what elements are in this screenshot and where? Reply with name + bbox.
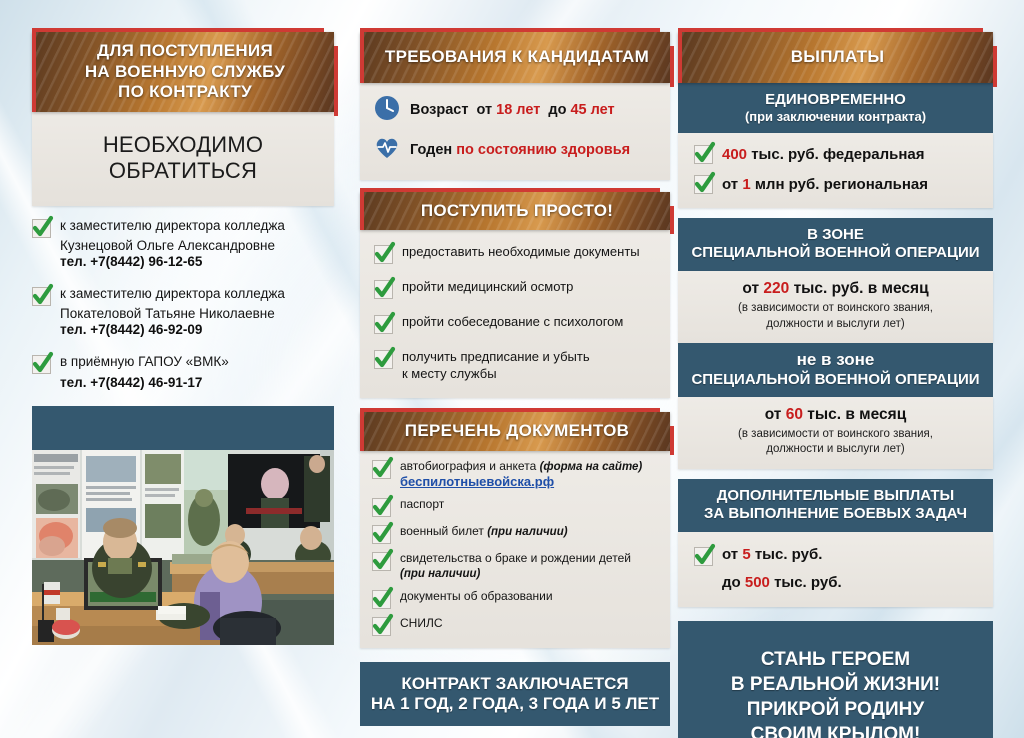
document-item: паспорт	[372, 497, 658, 517]
step-item: предоставить необходимые документы	[374, 244, 656, 264]
check-icon	[32, 355, 51, 374]
documents-website-link[interactable]: беспилотныевойска.рф	[400, 474, 554, 489]
age-from-value: 18 лет	[496, 102, 540, 118]
step-label: пройти собеседование с психологом	[402, 314, 623, 330]
lump-sum-regional-value: 1	[742, 176, 750, 193]
document-item: автобиография и анкета (форма на сайте) …	[372, 459, 658, 491]
zone-out-amount: от 60 тыс. в месяц	[690, 406, 981, 424]
check-icon	[372, 590, 391, 609]
step-label-line-1: получить предписание и убыть	[402, 349, 590, 364]
left-column: ДЛЯ ПОСТУПЛЕНИЯ НА ВОЕННУЮ СЛУЖБУ ПО КОН…	[32, 32, 334, 645]
lump-sum-item: 400 тыс. руб. федеральная	[694, 144, 977, 164]
document-note: (при наличии)	[400, 568, 480, 580]
hero-slogan: СТАНЬ ГЕРОЕМ В РЕАЛЬНОЙ ЖИЗНИ! ПРИКРОЙ Р…	[678, 621, 993, 738]
left-banner-line-3: ПО КОНТРАКТУ	[50, 82, 320, 103]
check-icon	[374, 245, 393, 264]
zone-out-note-line-1: (в зависимости от воинского звания,	[738, 428, 933, 440]
extra-from-rest: тыс. руб.	[755, 546, 823, 563]
check-icon	[374, 280, 393, 299]
check-icon	[32, 219, 51, 238]
document-label: военный билет (при наличии)	[400, 524, 568, 539]
health-highlight: по состоянию здоровья	[456, 142, 630, 158]
right-column: ВЫПЛАТЫ ЕДИНОВРЕМЕННО (при заключении ко…	[678, 32, 993, 738]
extra-to-rest: тыс. руб.	[774, 574, 842, 591]
document-main: свидетельства о браке и рождении детей	[400, 551, 631, 565]
step-label-line-2: к месту службы	[402, 366, 497, 381]
hero-line-4: СВОИМ КРЫЛОМ!	[690, 722, 981, 738]
lump-sum-subtitle: (при заключении контракта)	[688, 109, 983, 125]
contact-role: в приёмную ГАПОУ «ВМК»	[60, 354, 229, 369]
contact-name: Покателовой Татьяне Николаевне	[60, 306, 334, 321]
requirements-banner: ТРЕБОВАНИЯ К КАНДИДАТАМ	[360, 32, 670, 83]
zone-in-title-line-1: В ЗОНЕ	[684, 226, 987, 244]
check-icon	[372, 552, 391, 571]
document-item: документы об образовании	[372, 589, 658, 609]
zone-out-suffix: тыс. в месяц	[807, 406, 906, 423]
step-label: пройти медицинский осмотр	[402, 279, 573, 295]
extra-payments-panel: от 5 тыс. руб. до 500 тыс. руб.	[678, 532, 993, 607]
contacts-list: к заместителю директора колледжа Кузнецо…	[32, 218, 334, 390]
zone-out-title-line-1: не в зоне	[684, 350, 987, 370]
poster-page: ДЛЯ ПОСТУПЛЕНИЯ НА ВОЕННУЮ СЛУЖБУ ПО КОН…	[0, 0, 1024, 738]
zone-out-note-line-2: должности и выслуги лет)	[766, 443, 904, 455]
requirements-banner-label: ТРЕБОВАНИЯ К КАНДИДАТАМ	[378, 47, 656, 68]
contact-phone[interactable]: тел. +7(8442) 96-12-65	[60, 254, 334, 269]
lump-sum-federal-value: 400	[722, 146, 747, 163]
document-item: СНИЛС	[372, 616, 658, 636]
zone-in-note-line-2: должности и выслуги лет)	[766, 318, 904, 330]
check-icon	[372, 617, 391, 636]
zone-in-title-line-2: СПЕЦИАЛЬНОЙ ВОЕННОЙ ОПЕРАЦИИ	[684, 244, 987, 262]
document-main: военный билет	[400, 524, 484, 538]
hero-line-1: СТАНЬ ГЕРОЕМ	[690, 647, 981, 672]
contract-line-2: НА 1 ГОД, 2 ГОДА, 3 ГОДА И 5 ЛЕТ	[370, 694, 660, 714]
lump-sum-regional-prefix: от	[722, 176, 738, 193]
extra-from-value: 5	[742, 546, 750, 563]
payments-banner: ВЫПЛАТЫ	[678, 32, 993, 83]
check-icon	[694, 145, 713, 164]
check-icon	[372, 525, 391, 544]
document-main: автобиография и анкета	[400, 459, 536, 473]
lump-sum-regional-rest: млн руб. региональная	[755, 176, 928, 193]
steps-panel: предоставить необходимые документы пройт…	[360, 230, 670, 398]
middle-column: ТРЕБОВАНИЯ К КАНДИДАТАМ Возраст от 18 ле…	[360, 32, 670, 726]
extra-from-prefix: от	[722, 546, 738, 563]
steps-banner-label: ПОСТУПИТЬ ПРОСТО!	[378, 201, 656, 222]
age-to-value: 45 лет	[570, 102, 614, 118]
step-item: пройти медицинский осмотр	[374, 279, 656, 299]
step-label-multiline: получить предписание и убыть к месту слу…	[402, 349, 590, 382]
contact-name: Кузнецовой Ольге Александровне	[60, 238, 334, 253]
requirement-age-text: Возраст от 18 лет до 45 лет	[410, 102, 615, 118]
lump-sum-regional: от 1 млн руб. региональная	[722, 176, 928, 193]
lump-sum-panel: 400 тыс. руб. федеральная от 1 млн руб. …	[678, 133, 993, 208]
contact-phone[interactable]: тел. +7(8442) 46-92-09	[60, 322, 334, 337]
age-from-label: от	[477, 102, 493, 118]
contact-role: к заместителю директора колледжа	[60, 218, 285, 233]
requirement-health: Годен по состоянию здоровья	[374, 135, 656, 166]
requirements-panel: Возраст от 18 лет до 45 лет Годен по сос	[360, 83, 670, 180]
document-item: свидетельства о браке и рождении детей (…	[372, 551, 658, 581]
extra-from-text: от 5 тыс. руб.	[722, 546, 822, 563]
photo-block	[32, 406, 334, 645]
contact-item: к заместителю директора колледжа Покател…	[32, 286, 334, 337]
documents-panel: автобиография и анкета (форма на сайте) …	[360, 451, 670, 648]
zone-in-prefix: от	[742, 280, 759, 297]
check-icon	[32, 287, 51, 306]
zone-in-header: В ЗОНЕ СПЕЦИАЛЬНОЙ ВОЕННОЙ ОПЕРАЦИИ	[678, 218, 993, 271]
clock-icon	[374, 95, 400, 126]
document-note: (при наличии)	[487, 526, 567, 538]
zone-in-panel: от 220 тыс. руб. в месяц (в зависимости …	[678, 271, 993, 343]
documents-banner-label: ПЕРЕЧЕНЬ ДОКУМЕНТОВ	[378, 421, 656, 442]
document-label: автобиография и анкета (форма на сайте) …	[400, 459, 642, 491]
heartbeat-icon	[374, 135, 400, 166]
extra-title-line-2: ЗА ВЫПОЛНЕНИЕ БОЕВЫХ ЗАДАЧ	[684, 505, 987, 523]
zone-out-panel: от 60 тыс. в месяц (в зависимости от вои…	[678, 397, 993, 469]
lump-sum-federal-rest: тыс. руб. федеральная	[751, 146, 924, 163]
age-to-label: до	[548, 102, 566, 118]
contact-item: к заместителю директора колледжа Кузнецо…	[32, 218, 334, 269]
health-prefix: Годен	[410, 142, 452, 158]
check-icon	[372, 460, 391, 479]
check-icon	[694, 175, 713, 194]
zone-out-value: 60	[786, 406, 803, 423]
document-item: военный билет (при наличии)	[372, 524, 658, 544]
requirement-age: Возраст от 18 лет до 45 лет	[374, 95, 656, 126]
hero-line-2: В РЕАЛЬНОЙ ЖИЗНИ!	[690, 672, 981, 697]
contact-role: к заместителю директора колледжа	[60, 286, 285, 301]
check-icon	[694, 547, 713, 566]
document-note: (форма на сайте)	[540, 461, 643, 473]
document-main: паспорт	[400, 497, 444, 512]
extra-to-value: 500	[745, 574, 770, 591]
requirement-health-text: Годен по состоянию здоровья	[410, 142, 630, 158]
zone-in-suffix: тыс. руб. в месяц	[794, 280, 929, 297]
hero-line-3: ПРИКРОЙ РОДИНУ	[690, 697, 981, 722]
zone-out-prefix: от	[765, 406, 782, 423]
lump-sum-item: от 1 млн руб. региональная	[694, 174, 977, 194]
age-prefix: Возраст	[410, 102, 468, 118]
zone-in-value: 220	[763, 280, 789, 297]
document-main: СНИЛС	[400, 616, 443, 631]
zone-out-header: не в зоне СПЕЦИАЛЬНОЙ ВОЕННОЙ ОПЕРАЦИИ	[678, 343, 993, 396]
zone-out-note: (в зависимости от воинского звания, долж…	[690, 427, 981, 458]
check-icon	[374, 350, 393, 369]
document-label: свидетельства о браке и рождении детей (…	[400, 551, 631, 581]
step-item: получить предписание и убыть к месту слу…	[374, 349, 656, 382]
extra-title-line-1: ДОПОЛНИТЕЛЬНЫЕ ВЫПЛАТЫ	[684, 487, 987, 505]
zone-out-title-line-2: СПЕЦИАЛЬНОЙ ВОЕННОЙ ОПЕРАЦИИ	[684, 371, 987, 389]
check-icon	[372, 498, 391, 517]
lump-sum-header: ЕДИНОВРЕМЕННО (при заключении контракта)	[678, 83, 993, 134]
steps-banner: ПОСТУПИТЬ ПРОСТО!	[360, 192, 670, 231]
step-label: предоставить необходимые документы	[402, 244, 640, 260]
left-banner-line-1: ДЛЯ ПОСТУПЛЕНИЯ	[50, 41, 320, 62]
lump-sum-federal: 400 тыс. руб. федеральная	[722, 146, 925, 163]
left-banner-line-2: НА ВОЕННУЮ СЛУЖБУ	[50, 62, 320, 83]
check-icon	[374, 315, 393, 334]
recruitment-office-photo	[32, 450, 334, 645]
contact-phone[interactable]: тел. +7(8442) 46-91-17	[60, 375, 334, 390]
contract-line-1: КОНТРАКТ ЗАКЛЮЧАЕТСЯ	[370, 674, 660, 694]
lump-sum-title: ЕДИНОВРЕМЕННО	[688, 91, 983, 109]
document-main: документы об образовании	[400, 589, 553, 604]
step-item: пройти собеседование с психологом	[374, 314, 656, 334]
documents-banner: ПЕРЕЧЕНЬ ДОКУМЕНТОВ	[360, 412, 670, 451]
contact-item: в приёмную ГАПОУ «ВМК» тел. +7(8442) 46-…	[32, 354, 334, 390]
extra-payments-header: ДОПОЛНИТЕЛЬНЫЕ ВЫПЛАТЫ ЗА ВЫПОЛНЕНИЕ БОЕ…	[678, 479, 993, 532]
payments-banner-label: ВЫПЛАТЫ	[696, 47, 979, 68]
left-subtitle: НЕОБХОДИМО ОБРАТИТЬСЯ	[32, 112, 334, 206]
zone-in-note-line-1: (в зависимости от воинского звания,	[738, 302, 933, 314]
zone-in-amount: от 220 тыс. руб. в месяц	[690, 280, 981, 298]
extra-from-row: от 5 тыс. руб.	[694, 546, 977, 566]
zone-in-note: (в зависимости от воинского звания, долж…	[690, 301, 981, 332]
extra-to-text: до 500 тыс. руб.	[722, 574, 977, 591]
left-banner: ДЛЯ ПОСТУПЛЕНИЯ НА ВОЕННУЮ СЛУЖБУ ПО КОН…	[32, 32, 334, 112]
extra-to-prefix: до	[722, 574, 741, 591]
photo-header-bar	[32, 406, 334, 450]
contract-duration-bar: КОНТРАКТ ЗАКЛЮЧАЕТСЯ НА 1 ГОД, 2 ГОДА, 3…	[360, 662, 670, 727]
